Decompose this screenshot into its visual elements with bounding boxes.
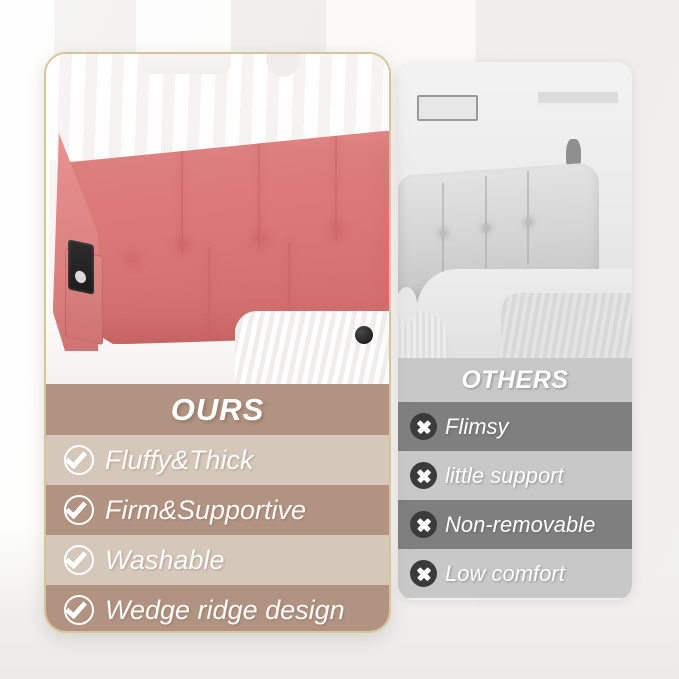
ours-feature-row: Washable (46, 535, 389, 585)
others-feature-label: little support (445, 463, 564, 489)
photo-bed-knob (355, 326, 373, 344)
x-circle-icon (410, 511, 437, 538)
x-circle-icon (410, 413, 437, 440)
others-feature-row: Non-removable (398, 500, 632, 549)
photo-pillow-tuft (255, 234, 266, 243)
ours-band-stack: OURS Fluffy&Thick Firm&Supportive Washab… (46, 384, 389, 633)
check-circle-icon (64, 495, 94, 525)
ours-feature-label: Fluffy&Thick (105, 445, 254, 476)
ours-feature-label: Firm&Supportive (105, 495, 306, 526)
photo-pillow-seam (442, 182, 444, 272)
ours-comparison-card: OURS Fluffy&Thick Firm&Supportive Washab… (44, 52, 391, 633)
others-feature-row: Low comfort (398, 549, 632, 598)
ours-feature-row: Firm&Supportive (46, 485, 389, 535)
others-product-photo (398, 62, 632, 358)
photo-pillow-seam (335, 130, 337, 241)
check-circle-icon (64, 545, 94, 575)
photo-pillow-tuft (177, 240, 188, 249)
photo-lampshade (142, 54, 231, 74)
others-feature-label: Non-removable (445, 512, 595, 538)
check-circle-icon (64, 595, 94, 625)
ours-header-band: OURS (46, 384, 389, 435)
photo-pillow-seam (181, 137, 183, 252)
photo-pillow-tuft (332, 225, 343, 234)
others-feature-row: little support (398, 451, 632, 500)
photo-throw-blanket (501, 293, 632, 358)
photo-pillow-tuft (483, 224, 490, 231)
others-feature-label: Flimsy (445, 414, 509, 440)
x-circle-icon (410, 560, 437, 587)
others-feature-label: Low comfort (445, 561, 565, 587)
photo-picture-frame (417, 95, 478, 122)
photo-pillow-tuft (525, 218, 532, 225)
ours-feature-row: Wedge ridge design (46, 585, 389, 633)
ours-header-text: OURS (171, 392, 265, 428)
ours-product-photo (46, 54, 389, 384)
x-circle-icon (410, 462, 437, 489)
others-header-text: OTHERS (461, 366, 568, 395)
photo-pillow-seam (258, 132, 260, 247)
photo-pillow-seam (208, 247, 210, 340)
photo-pillow-seam (485, 176, 487, 269)
photo-pillow-tuft (440, 229, 447, 236)
photo-pillow-tuft (127, 254, 138, 263)
photo-phone-in-pocket (68, 239, 94, 294)
ours-feature-label: Washable (105, 545, 225, 576)
others-header-band: OTHERS (398, 358, 632, 402)
photo-pillow-seam (527, 170, 529, 265)
ours-feature-label: Wedge ridge design (105, 595, 345, 626)
ours-feature-row: Fluffy&Thick (46, 435, 389, 485)
check-circle-icon (64, 445, 94, 475)
others-band-stack: OTHERS Flimsy little support Non-removab… (398, 358, 632, 598)
photo-shelf (538, 92, 618, 104)
photo-duvet (235, 311, 389, 384)
others-feature-row: Flimsy (398, 402, 632, 451)
others-comparison-card: OTHERS Flimsy little support Non-removab… (398, 62, 632, 600)
